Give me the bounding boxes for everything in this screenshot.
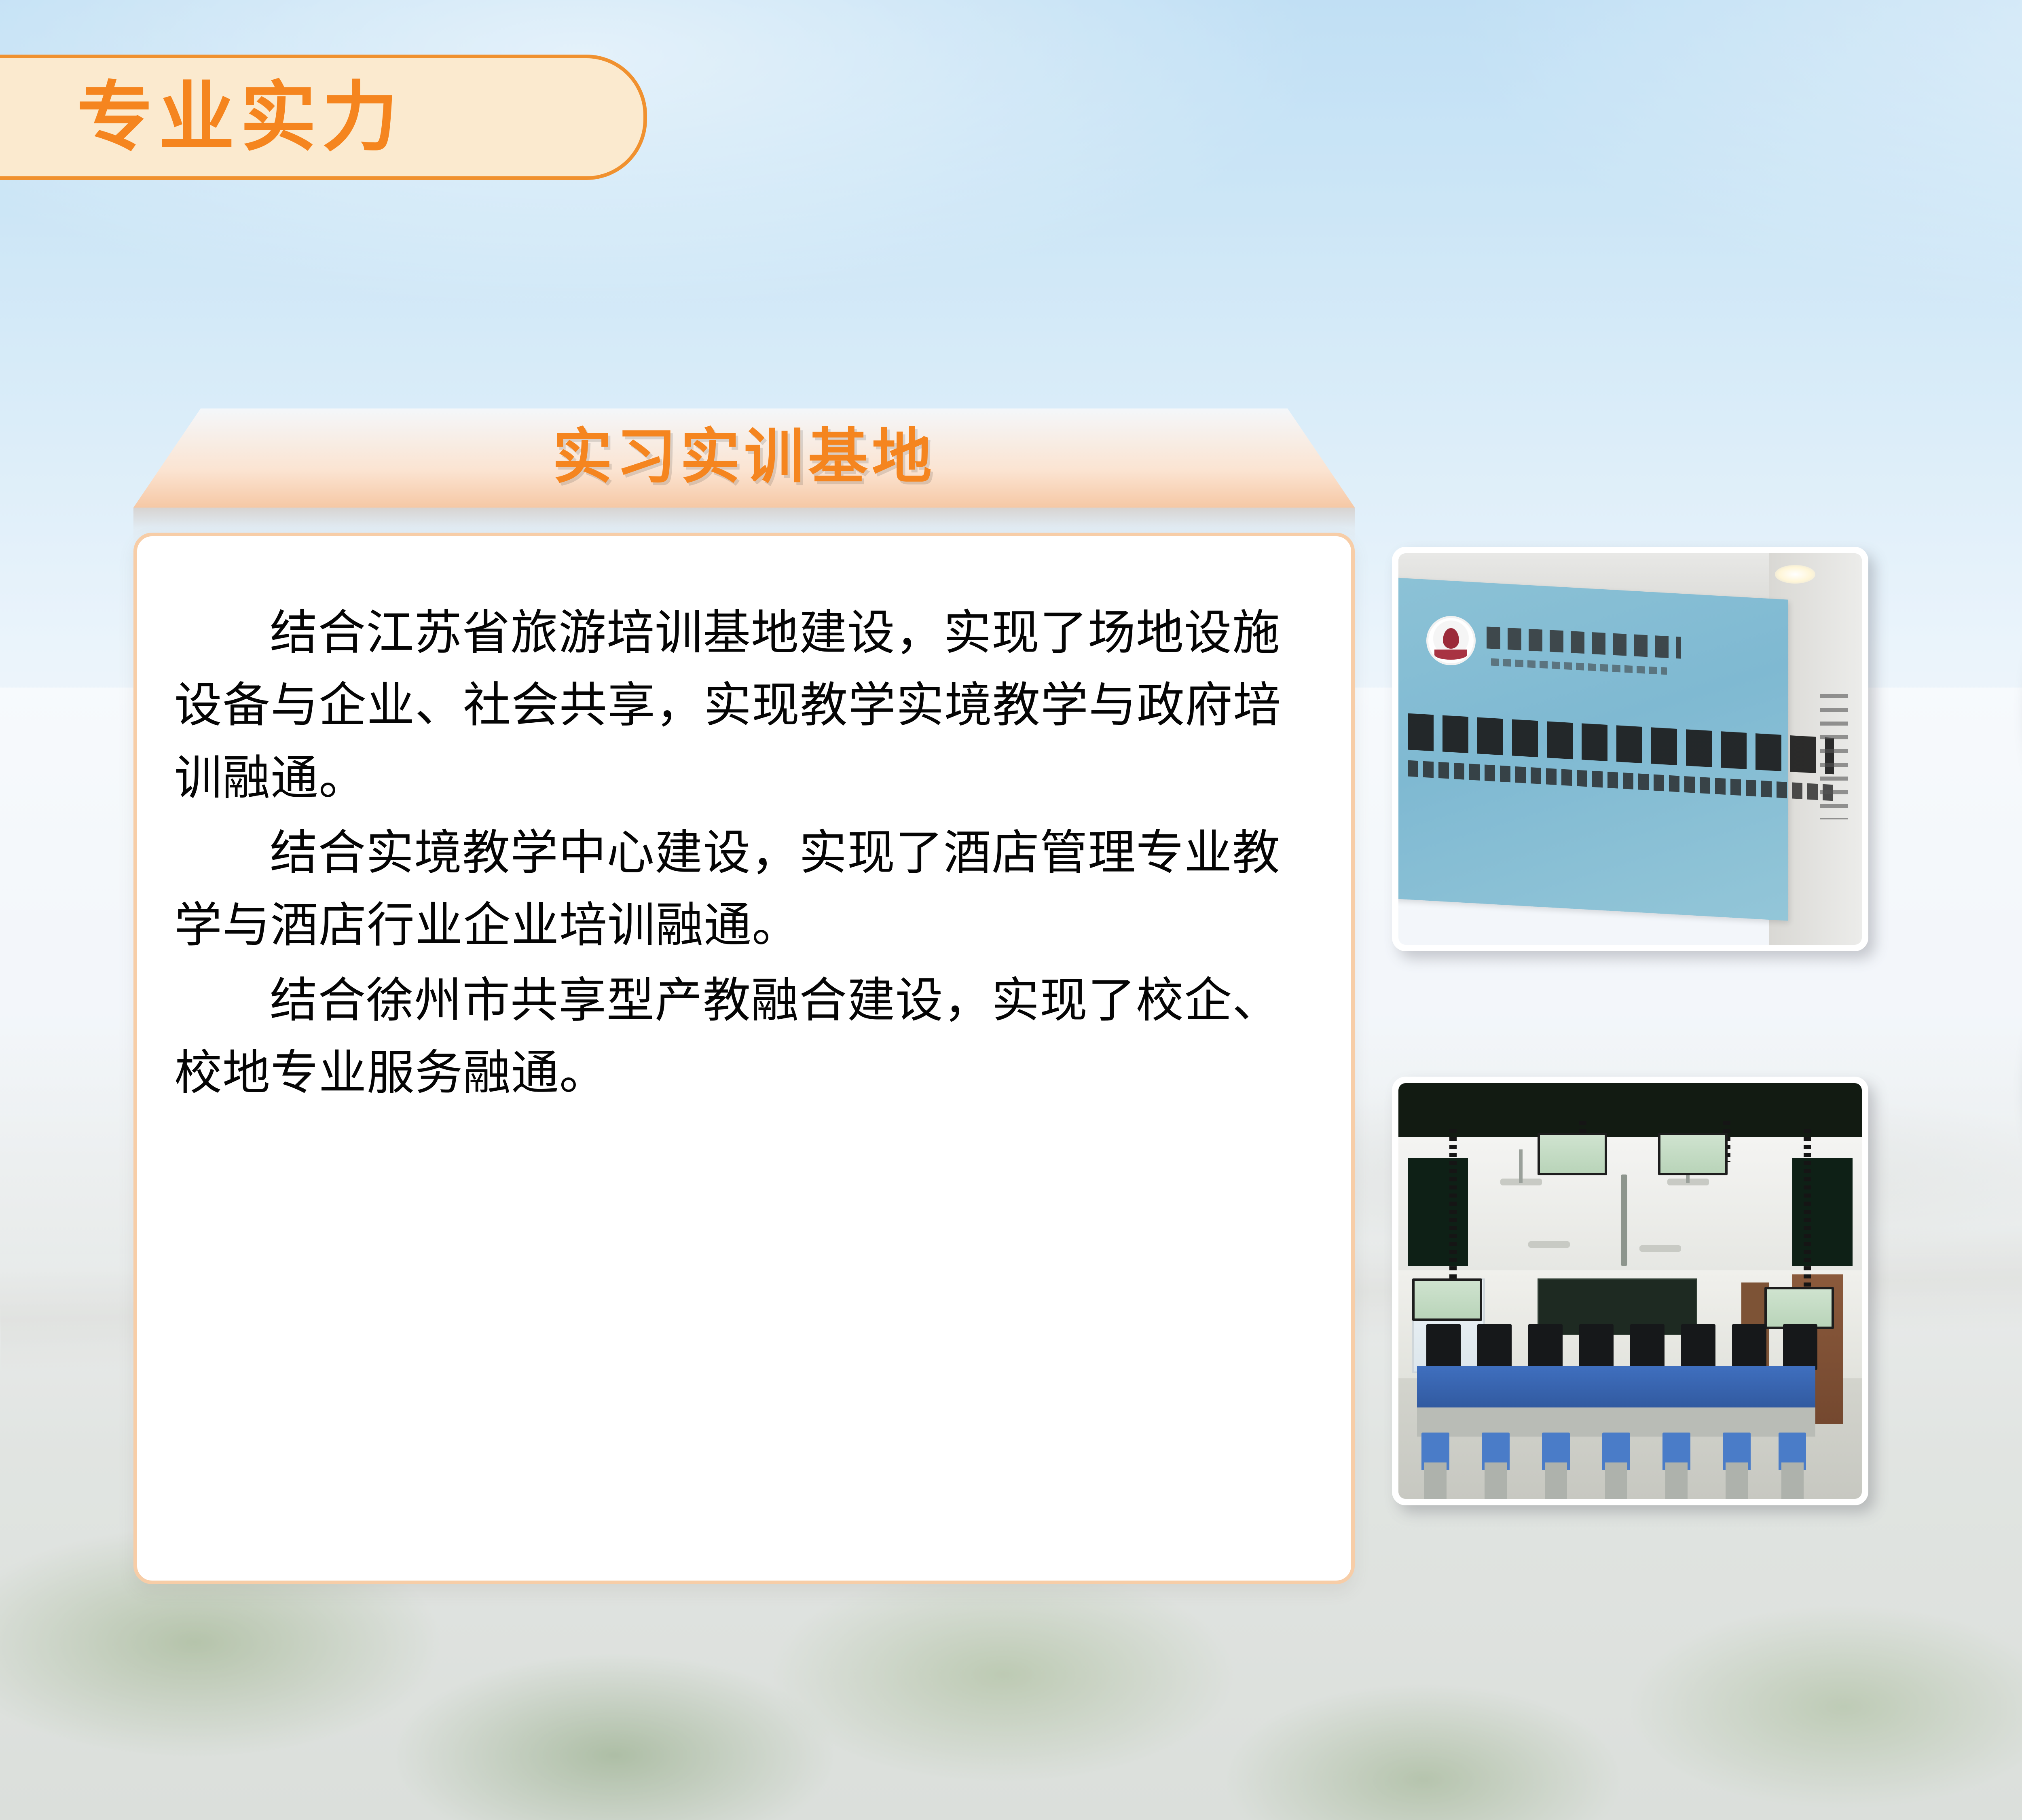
panel-paragraph-1: 结合江苏省旅游培训基地建设，实现了场地设施设备与企业、社会共享，实现教学实境教学… (174, 597, 1314, 815)
panel-header-text: 实习实训基地 (552, 427, 936, 487)
section-title-tab: 专业实力 (0, 55, 647, 180)
classroom-photo (1392, 1077, 1868, 1505)
wall-sign-photo (1392, 547, 1868, 951)
panel-body-card: 结合江苏省旅游培训基地建设，实现了场地设施设备与企业、社会共享，实现教学实境教学… (133, 533, 1355, 1584)
panel-header-banner: 实习实训基地 (133, 408, 1355, 508)
panel-paragraph-3: 结合徐州市共享型产教融合建设，实现了校企、校地专业服务融通。 (174, 965, 1314, 1110)
internship-training-base-panel: 实习实训基地 结合江苏省旅游培训基地建设，实现了场地设施设备与企业、社会共享，实… (133, 408, 1355, 1584)
panel-paragraph-2: 结合实境教学中心建设，实现了酒店管理专业教学与酒店行业企业培训融通。 (174, 817, 1314, 962)
section-title-text: 专业实力 (77, 79, 404, 155)
shared-teaching-center-diagram: 客房理实 一体化教室 高星级酒店 前厅展示 国际证照 考培中心 西餐及酒吧 茶艺… (1901, 320, 2022, 1674)
